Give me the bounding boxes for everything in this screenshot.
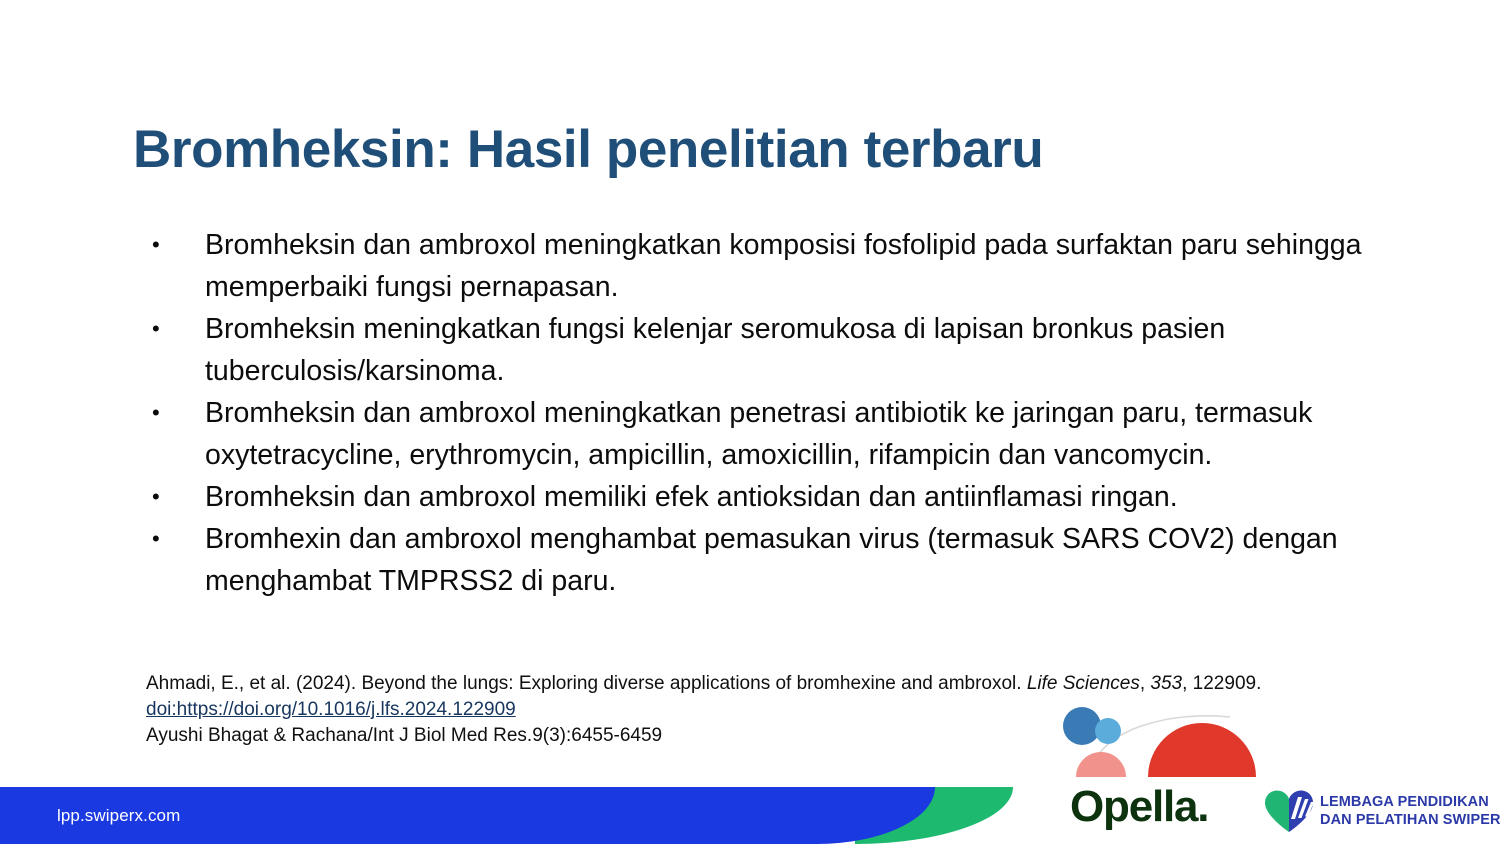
list-item: • Bromheksin dan ambroxol meningkatkan k… (146, 224, 1436, 308)
bullet-marker-icon: • (152, 518, 166, 560)
doi-link[interactable]: doi:https://doi.org/10.1016/j.lfs.2024.1… (146, 699, 516, 720)
citation-reference-1: Ahmadi, E., et al. (2024). Beyond the lu… (146, 671, 1396, 697)
citation-journal: Life Sciences (1027, 673, 1140, 694)
opella-logo: Opella. (1054, 705, 1269, 840)
opella-wordmark: Opella. (1070, 783, 1208, 831)
list-item: • Bromheksin dan ambroxol memiliki efek … (146, 476, 1436, 518)
citation-volume: 353 (1150, 673, 1182, 694)
list-item: • Bromhexin dan ambroxol menghambat pema… (146, 518, 1436, 602)
opella-mark-icon (1054, 705, 1269, 777)
swiperx-line-1: LEMBAGA PENDIDIKAN (1320, 794, 1500, 812)
swiperx-wordmark: LEMBAGA PENDIDIKAN DAN PELATIHAN SWIPERX (1320, 794, 1500, 829)
swiperx-logo: LEMBAGA PENDIDIKAN DAN PELATIHAN SWIPERX (1262, 789, 1482, 837)
slide-canvas: Bromheksin: Hasil penelitian terbaru • B… (0, 0, 1500, 844)
list-item-text: Bromheksin meningkatkan fungsi kelenjar … (205, 313, 1225, 387)
bullet-marker-icon: • (152, 308, 166, 350)
list-item-text: Bromhexin dan ambroxol menghambat pemasu… (205, 523, 1338, 597)
list-item: • Bromheksin meningkatkan fungsi kelenja… (146, 308, 1436, 392)
swiperx-heart-icon (1262, 789, 1316, 833)
bullet-marker-icon: • (152, 392, 166, 434)
citation-separator: , (1140, 673, 1151, 694)
swiperx-line-2: DAN PELATIHAN SWIPERX (1320, 812, 1500, 830)
page-title: Bromheksin: Hasil penelitian terbaru (133, 120, 1393, 179)
list-item: • Bromheksin dan ambroxol meningkatkan p… (146, 392, 1436, 476)
footer-url-label: lpp.swiperx.com (57, 787, 180, 844)
list-item-text: Bromheksin dan ambroxol meningkatkan kom… (205, 229, 1362, 303)
bullet-marker-icon: • (152, 224, 166, 266)
citation-separator: , (1182, 673, 1193, 694)
citation-pages: 122909. (1193, 673, 1262, 694)
bullet-marker-icon: • (152, 476, 166, 518)
bullet-list: • Bromheksin dan ambroxol meningkatkan k… (146, 224, 1436, 602)
list-item-text: Bromheksin dan ambroxol memiliki efek an… (205, 481, 1178, 513)
list-item-text: Bromheksin dan ambroxol meningkatkan pen… (205, 397, 1312, 471)
citation-prefix: Ahmadi, E., et al. (2024). Beyond the lu… (146, 673, 1027, 694)
